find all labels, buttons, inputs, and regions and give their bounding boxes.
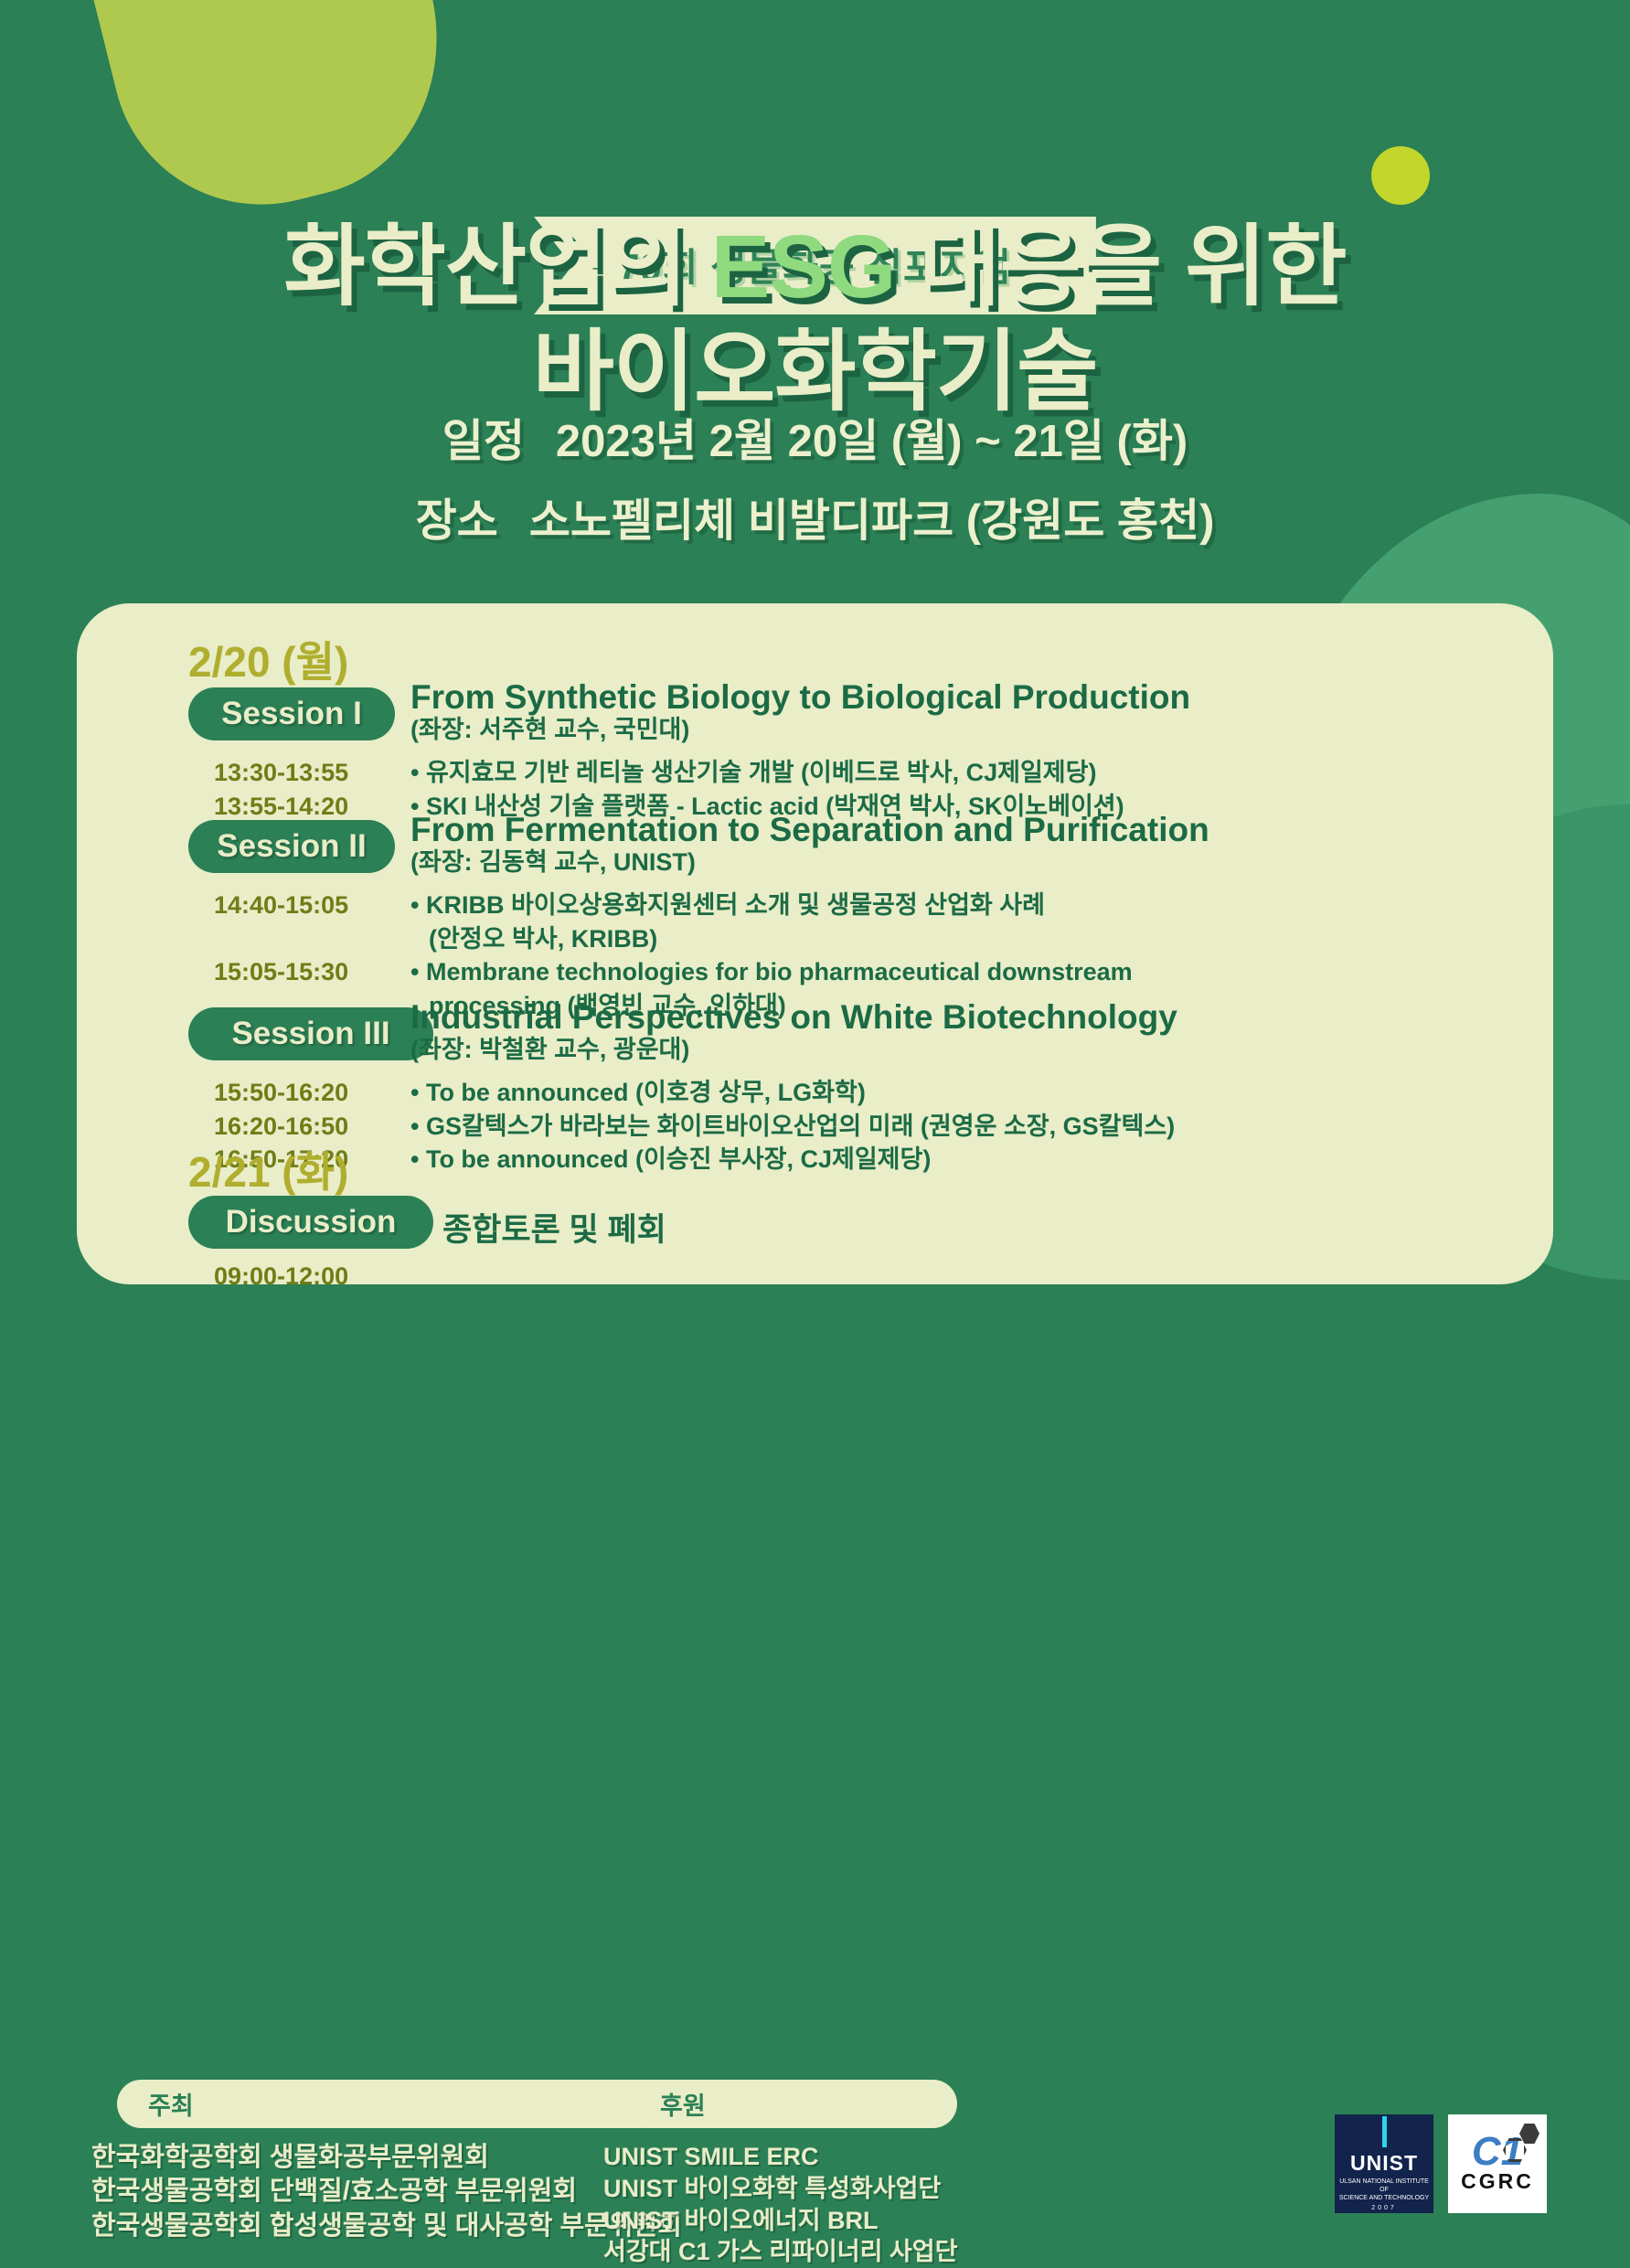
title-segment-a: 화학산업의 bbox=[283, 217, 710, 316]
session-3-talk-1: • To be announced (이호경 상무, LG화학) bbox=[410, 1076, 1175, 1110]
discussion-title: 종합토론 및 폐회 bbox=[442, 1204, 666, 1251]
session-3-title: Industrial Perspectives on White Biotech… bbox=[410, 998, 1177, 1036]
session-2-chair: (좌장: 김동혁 교수, UNIST) bbox=[410, 849, 1209, 876]
unist-logo-year: 2007 bbox=[1371, 2205, 1397, 2211]
session-3-talk-2: • GS칼텍스가 바라보는 화이트바이오산업의 미래 (권영운 소장, GS칼텍… bbox=[410, 1110, 1175, 1144]
session-3-talks: • To be announced (이호경 상무, LG화학) • GS칼텍스… bbox=[410, 1076, 1175, 1177]
event-date-row: 일정2023년 2월 20일 (월) ~ 21일 (화) bbox=[0, 405, 1630, 470]
unist-logo-name: UNIST bbox=[1350, 2151, 1418, 2176]
session-1-title: From Synthetic Biology to Biological Pro… bbox=[410, 678, 1190, 716]
leaf-shape-top-left bbox=[73, 0, 472, 236]
session-3-talk-3: • To be announced (이승진 부사장, CJ제일제당) bbox=[410, 1143, 1175, 1177]
place-value: 소노펠리체 비발디파크 (강원도 홍천) bbox=[529, 496, 1215, 546]
event-place-row: 장소소노펠리체 비발디파크 (강원도 홍천) bbox=[0, 484, 1630, 549]
discussion-time: 09:00-12:00 bbox=[214, 1260, 348, 1294]
c1-logo-name: CGRC bbox=[1461, 2169, 1534, 2194]
day-heading-1: 2/20 (월) bbox=[188, 629, 348, 689]
session-1-pill-wrap: Session I bbox=[188, 687, 395, 740]
session-3-heading: Industrial Perspectives on White Biotech… bbox=[410, 999, 1177, 1063]
sponsor-logos: UNIST ULSAN NATIONAL INSTITUTE OF SCIENC… bbox=[1335, 2114, 1547, 2213]
session-1-talk-1: • 유지효모 기반 레티놀 생산기술 개발 (이베드로 박사, CJ제일제당) bbox=[410, 756, 1124, 790]
unist-logo: UNIST ULSAN NATIONAL INSTITUTE OF SCIENC… bbox=[1335, 2114, 1433, 2213]
session-1-chair: (좌장: 서주현 교수, 국민대) bbox=[410, 717, 1190, 743]
c1-cgrc-logo: C1 CGRC bbox=[1448, 2114, 1547, 2213]
host-organizations: 한국화학공학회 생물화공부문위원회 한국생물공학회 단백질/효소공학 부문위원회… bbox=[91, 2141, 682, 2243]
session-2-talk-2: • Membrane technologies for bio pharmace… bbox=[410, 955, 1133, 989]
discussion-pill-wrap: Discussion bbox=[188, 1196, 433, 1249]
place-label: 장소 bbox=[416, 496, 498, 546]
session-2-pill: Session II bbox=[188, 820, 395, 873]
discussion-pill: Discussion bbox=[188, 1196, 433, 1249]
page-title-line1: 화학산업의 ESG 대응을 위한 bbox=[0, 219, 1630, 315]
sponsor-organizations: UNIST SMILE ERC UNIST 바이오화학 특성화사업단 UNIST… bbox=[603, 2141, 957, 2268]
host-block: 주최 한국화학공학회 생물화공부문위원회 한국생물공학회 단백질/효소공학 부문… bbox=[91, 2080, 682, 2243]
date-value: 2023년 2월 20일 (월) ~ 21일 (화) bbox=[556, 417, 1188, 466]
session-1-times: 13:30-13:55 13:55-14:20 bbox=[214, 756, 348, 823]
session-2-title: From Fermentation to Separation and Puri… bbox=[410, 811, 1209, 848]
session-1-heading: From Synthetic Biology to Biological Pro… bbox=[410, 679, 1190, 743]
sponsor-tag: 후원 bbox=[629, 2080, 957, 2128]
dot-accent-top-right bbox=[1371, 146, 1430, 205]
sponsor-block: 후원 UNIST SMILE ERC UNIST 바이오화학 특성화사업단 UN… bbox=[603, 2080, 957, 2268]
session-2-times: 14:40-15:05 15:05-15:30 bbox=[214, 889, 348, 989]
unist-logo-subtitle: ULSAN NATIONAL INSTITUTE OF SCIENCE AND … bbox=[1335, 2178, 1433, 2202]
session-1-pill: Session I bbox=[188, 687, 395, 740]
schedule-panel: 2/20 (월) Session I From Synthetic Biolog… bbox=[77, 603, 1553, 1284]
session-2-heading: From Fermentation to Separation and Puri… bbox=[410, 812, 1209, 876]
host-tag: 주최 bbox=[117, 2080, 682, 2128]
session-2-talk-1-cont: (안정오 박사, KRIBB) bbox=[410, 922, 1133, 956]
session-2-pill-wrap: Session II bbox=[188, 820, 395, 873]
unist-logo-mark-icon bbox=[1382, 2116, 1387, 2147]
session-2-talk-1: • KRIBB 바이오상용화지원센터 소개 및 생물공정 산업화 사례 bbox=[410, 889, 1133, 922]
session-3-pill-wrap: Session III bbox=[188, 1007, 433, 1060]
title-accent-esg: ESG bbox=[711, 217, 896, 316]
day-heading-2: 2/21 (화) bbox=[188, 1139, 348, 1199]
title-segment-b: 대응을 위한 bbox=[895, 217, 1346, 316]
date-label: 일정 bbox=[442, 417, 525, 466]
session-3-pill: Session III bbox=[188, 1007, 433, 1060]
session-3-chair: (좌장: 박철환 교수, 광운대) bbox=[410, 1037, 1177, 1063]
